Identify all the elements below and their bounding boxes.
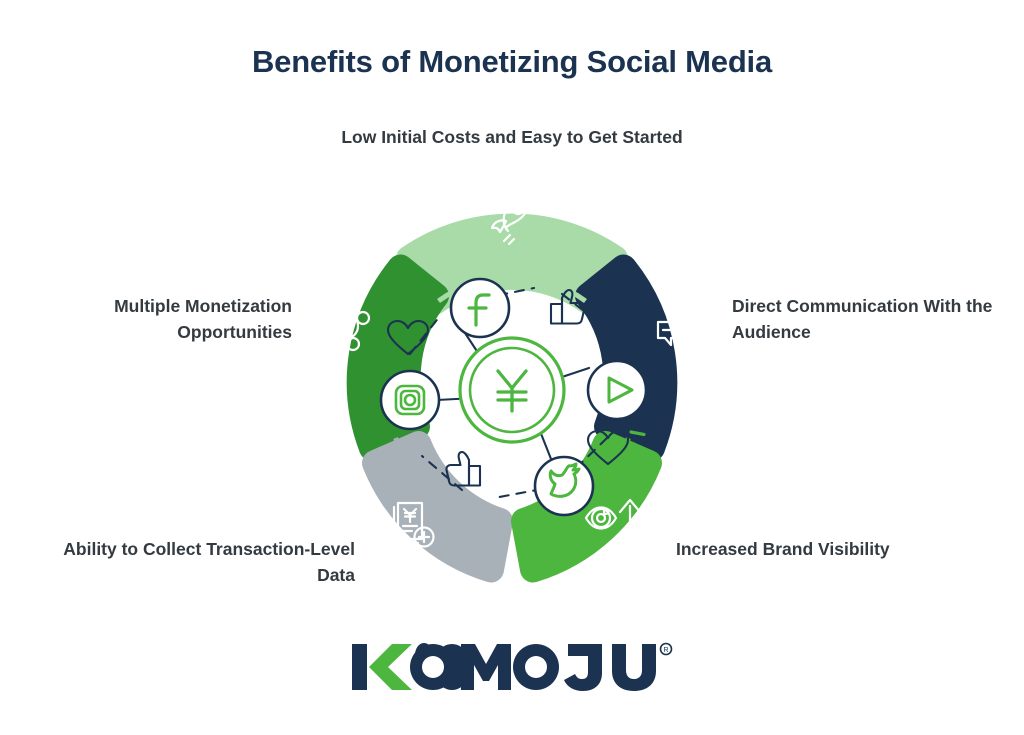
segment-label-top: Low Initial Costs and Easy to Get Starte…: [262, 124, 762, 150]
benefits-wheel-diagram: [262, 168, 762, 608]
page-title: Benefits of Monetizing Social Media: [0, 44, 1024, 80]
node-youtube[interactable]: [588, 361, 646, 419]
center-hub[interactable]: [460, 338, 564, 442]
infographic-root: Benefits of Monetizing Social Media Low …: [0, 0, 1024, 735]
node-facebook[interactable]: [451, 279, 509, 337]
segment-label-left: Multiple Monetization Opportunities: [30, 293, 292, 346]
svg-text:R: R: [663, 647, 668, 654]
komoju-logo: R: [0, 640, 1024, 694]
komoju-wordmark-tail: R: [562, 640, 674, 694]
komoju-wordmark: [350, 640, 568, 694]
node-instagram[interactable]: [381, 371, 439, 429]
segment-label-right: Direct Communication With the Audience: [732, 293, 1000, 346]
node-twitter[interactable]: [535, 457, 593, 515]
wheel-segment-right[interactable]: [588, 268, 702, 449]
